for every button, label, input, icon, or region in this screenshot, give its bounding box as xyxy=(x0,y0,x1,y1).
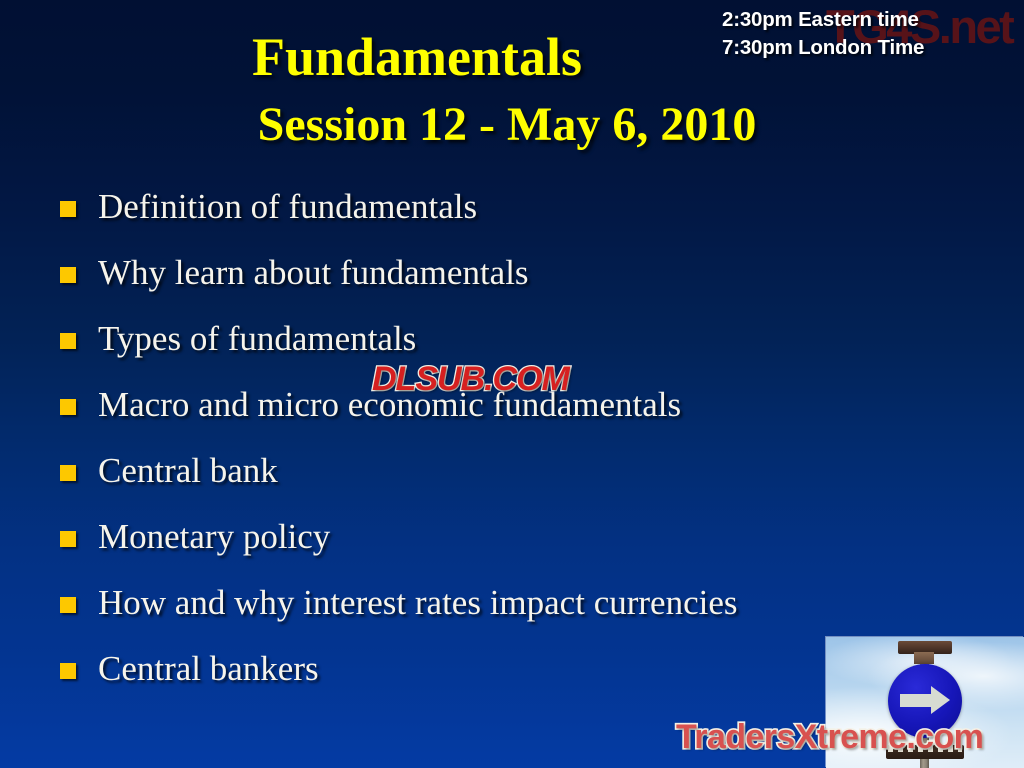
list-item-label: Why learn about fundamentals xyxy=(98,251,990,295)
square-bullet-icon xyxy=(60,597,76,613)
arrow-head xyxy=(931,686,950,714)
session-time-london: 7:30pm London Time xyxy=(722,34,1012,62)
square-bullet-icon xyxy=(60,267,76,283)
list-item-label: Central bank xyxy=(98,449,990,493)
list-item: Central bank xyxy=(60,449,990,515)
square-bullet-icon xyxy=(60,531,76,547)
dlsub-watermark: DLSUB.COM xyxy=(372,362,569,396)
sign-cap-neck xyxy=(914,652,934,664)
list-item-label: Definition of fundamentals xyxy=(98,185,990,229)
list-item: Definition of fundamentals xyxy=(60,185,990,251)
list-item: Why learn about fundamentals xyxy=(60,251,990,317)
slide-subtitle: Session 12 - May 6, 2010 xyxy=(0,97,1024,153)
list-item-label: How and why interest rates impact curren… xyxy=(98,581,990,625)
square-bullet-icon xyxy=(60,663,76,679)
presentation-slide: TG4S.net 2:30pm Eastern time 7:30pm Lond… xyxy=(0,0,1024,768)
square-bullet-icon xyxy=(60,333,76,349)
tradersxtreme-logo: TradersXtreme.com xyxy=(676,718,983,756)
list-item-label: Types of fundamentals xyxy=(98,317,990,361)
square-bullet-icon xyxy=(60,465,76,481)
bullet-list: Definition of fundamentals Why learn abo… xyxy=(60,185,990,713)
square-bullet-icon xyxy=(60,399,76,415)
session-time-eastern: 2:30pm Eastern time xyxy=(722,6,1012,34)
session-time-block: 2:30pm Eastern time 7:30pm London Time xyxy=(722,6,1012,62)
list-item: Monetary policy xyxy=(60,515,990,581)
list-item-label: Monetary policy xyxy=(98,515,990,559)
square-bullet-icon xyxy=(60,201,76,217)
